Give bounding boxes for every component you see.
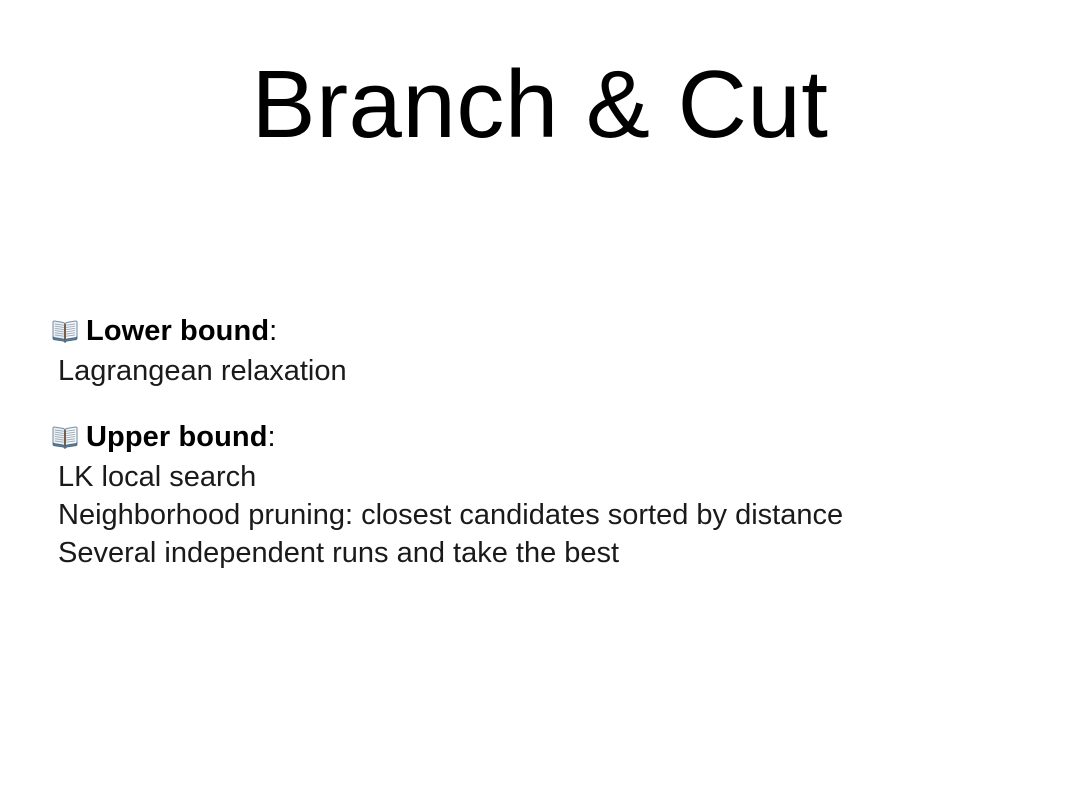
open-book-icon	[52, 319, 78, 343]
slide-body: Lower bound: Lagrangean relaxation	[52, 312, 1032, 572]
page-title: Branch & Cut	[0, 52, 1080, 158]
list-item: Several independent runs and take the be…	[58, 534, 1032, 572]
bullet-sublines: LK local search Neighborhood pruning: cl…	[58, 458, 1032, 572]
presentation-slide: Branch & Cut Lower bound:	[0, 0, 1080, 810]
bullet-sublines: Lagrangean relaxation	[58, 352, 1032, 390]
bullet-heading-colon: :	[268, 418, 276, 456]
open-book-icon	[52, 425, 78, 449]
bullet-heading: Lower bound:	[52, 312, 1032, 350]
bullet-heading-label: Upper bound	[86, 418, 268, 456]
bullet-heading: Upper bound:	[52, 418, 1032, 456]
list-item: LK local search	[58, 458, 1032, 496]
list-item: Lagrangean relaxation	[58, 352, 1032, 390]
bullet-group-upper-bound: Upper bound: LK local search Neighborhoo…	[52, 418, 1032, 572]
bullet-group-lower-bound: Lower bound: Lagrangean relaxation	[52, 312, 1032, 390]
bullet-heading-colon: :	[269, 312, 277, 350]
list-item: Neighborhood pruning: closest candidates…	[58, 496, 1032, 534]
bullet-heading-label: Lower bound	[86, 312, 269, 350]
